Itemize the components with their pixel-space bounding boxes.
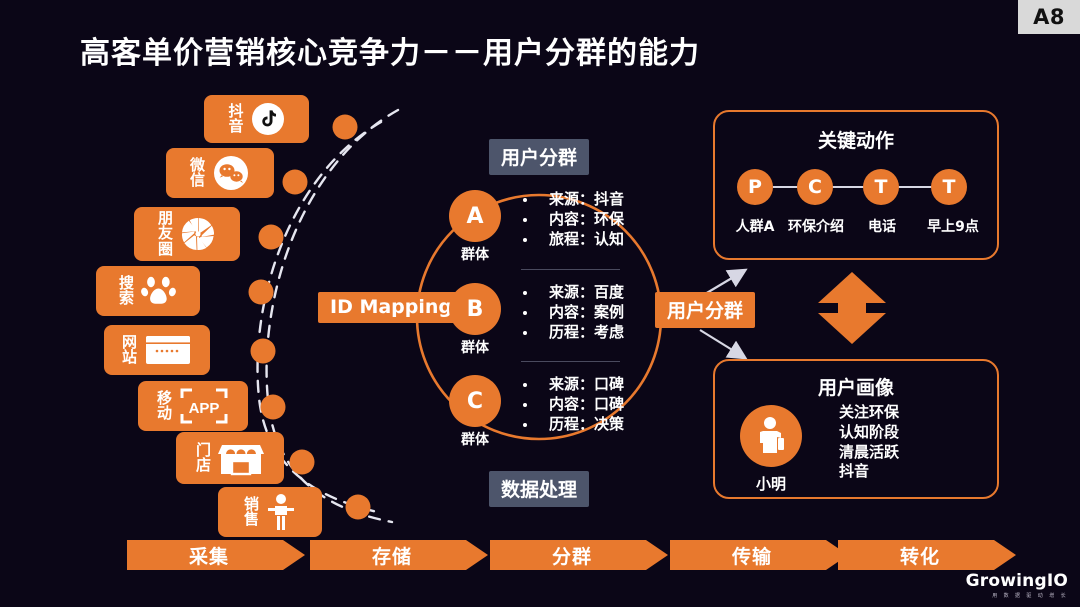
group-attr: 旅程：认知: [523, 230, 624, 249]
group-divider: [521, 269, 620, 270]
pipeline-step-label: 传输: [732, 542, 772, 569]
persona-trait: 认知阶段: [839, 423, 899, 443]
group-attr: 内容：案例: [523, 303, 624, 322]
group-attr: 内容：口碑: [523, 395, 624, 414]
svg-text:APP: APP: [189, 400, 220, 417]
key-action-node[interactable]: P: [737, 169, 773, 205]
group-attr: 来源：抖音: [523, 190, 624, 209]
key-action-label: 早上9点: [913, 216, 993, 236]
key-action-node[interactable]: T: [863, 169, 899, 205]
channel-chip-search[interactable]: 搜 索: [96, 266, 200, 316]
channel-chip-mobile-app[interactable]: 移 动 APP: [138, 381, 248, 431]
pipeline-step-segment[interactable]: 分群: [490, 540, 668, 570]
group-attributes: 来源：百度 内容：案例 历程：考虑: [523, 283, 624, 343]
bullet-icon: [523, 218, 527, 222]
bullet-icon: [523, 331, 527, 335]
group-attributes: 来源：口碑 内容：口碑 历程：决策: [523, 375, 624, 435]
persona-trait: 清晨活跃: [839, 443, 899, 463]
persona-panel: 用户画像 小明 关注环保 认知阶段 清晨活跃 抖音: [713, 359, 999, 499]
channel-label: 移 动: [157, 391, 172, 422]
page-title: 高客单价营销核心竞争力－－用户分群的能力: [80, 28, 700, 72]
key-action-label: 环保介绍: [781, 216, 851, 236]
store-icon: [218, 439, 264, 477]
group-badge: C: [449, 375, 501, 427]
bullet-icon: [523, 198, 527, 202]
bullet-icon: [523, 423, 527, 427]
baidu-paw-icon: [141, 274, 177, 308]
key-actions-panel: 关键动作 P C T T 人群A 环保介绍 电话 早上9点: [713, 110, 999, 260]
center-top-label: 用户分群: [489, 139, 589, 175]
persona-trait: 抖音: [839, 462, 899, 482]
channel-label: 网 站: [122, 335, 137, 366]
bullet-icon: [523, 291, 527, 295]
group-attributes: 来源：抖音 内容：环保 旅程：认知: [523, 190, 624, 250]
channel-chip-website[interactable]: 网 站: [104, 325, 210, 375]
pipeline-step-label: 采集: [189, 542, 229, 569]
group-badge: A: [449, 190, 501, 242]
pipeline-step-collect[interactable]: 采集: [127, 540, 305, 570]
channel-chip-wechat[interactable]: 微 信: [166, 148, 274, 198]
key-action-label: 人群A: [721, 216, 789, 236]
group-attr: 来源：口碑: [523, 375, 624, 394]
pipeline-step-label: 存储: [372, 542, 412, 569]
pipeline-step-transfer[interactable]: 传输: [670, 540, 848, 570]
center-bottom-label: 数据处理: [489, 471, 589, 507]
channel-label: 抖 音: [228, 104, 243, 135]
channel-chip-douyin[interactable]: 抖 音: [204, 95, 309, 143]
group-attr: 历程：决策: [523, 415, 624, 434]
group-attr: 历程：考虑: [523, 323, 624, 342]
persona-name: 小明: [740, 473, 802, 494]
key-action-node[interactable]: T: [931, 169, 967, 205]
bullet-icon: [523, 311, 527, 315]
slide-number-badge: A8: [1018, 0, 1080, 34]
channel-label: 门 店: [196, 443, 211, 474]
bullet-icon: [523, 238, 527, 242]
group-badge: B: [449, 283, 501, 335]
pipeline-step-label: 分群: [552, 542, 592, 569]
avatar: [740, 405, 802, 467]
channel-label: 销 售: [244, 497, 259, 528]
group-caption: 群体: [449, 244, 501, 264]
slide-root: A8 高客单价营销核心竞争力－－用户分群的能力 抖 音 微 信 朋 友 圈: [0, 0, 1080, 607]
channel-label: 搜 索: [119, 276, 134, 307]
bullet-icon: [523, 383, 527, 387]
channel-chip-moments[interactable]: 朋 友 圈: [134, 207, 240, 261]
persona-title: 用户画像: [715, 373, 997, 400]
group-divider: [521, 361, 620, 362]
pipeline-step-store[interactable]: 存储: [310, 540, 488, 570]
channel-label: 微 信: [190, 158, 205, 189]
pipeline-step-convert[interactable]: 转化: [838, 540, 1016, 570]
key-action-label: 电话: [851, 216, 913, 236]
group-attr: 内容：环保: [523, 210, 624, 229]
key-action-node[interactable]: C: [797, 169, 833, 205]
group-caption: 群体: [449, 337, 501, 357]
person-icon: [754, 415, 788, 457]
persona-traits: 关注环保 认知阶段 清晨活跃 抖音: [839, 403, 899, 482]
logo-wordmark: GrowingIO: [966, 571, 1068, 591]
bullet-icon: [523, 403, 527, 407]
app-icon: APP: [179, 387, 229, 425]
pipeline-step-label: 转化: [900, 542, 940, 569]
growingio-logo: GrowingIO 用 数 据 驱 动 增 长: [966, 571, 1068, 599]
wechat-icon: [212, 154, 250, 192]
segment-group-a: A 群体 来源：抖音 内容：环保 旅程：认知: [449, 190, 624, 250]
segment-output-label: 用户分群: [655, 292, 755, 328]
segment-group-b: B 群体 来源：百度 内容：案例 历程：考虑: [449, 283, 624, 343]
tiktok-icon: [251, 102, 285, 136]
channel-chip-store[interactable]: 门 店: [176, 432, 284, 484]
logo-subtitle: 用 数 据 驱 动 增 长: [966, 592, 1068, 599]
channel-chip-sales[interactable]: 销 售: [218, 487, 322, 537]
group-caption: 群体: [449, 429, 501, 449]
id-mapping-label: ID Mapping: [318, 292, 464, 323]
group-attr: 来源：百度: [523, 283, 624, 302]
moments-icon: [180, 216, 216, 252]
segment-group-c: C 群体 来源：口碑 内容：口碑 历程：决策: [449, 375, 624, 435]
website-icon: [144, 332, 192, 368]
salesperson-icon: [266, 493, 296, 531]
channel-label: 朋 友 圈: [158, 211, 173, 257]
persona-trait: 关注环保: [839, 403, 899, 423]
